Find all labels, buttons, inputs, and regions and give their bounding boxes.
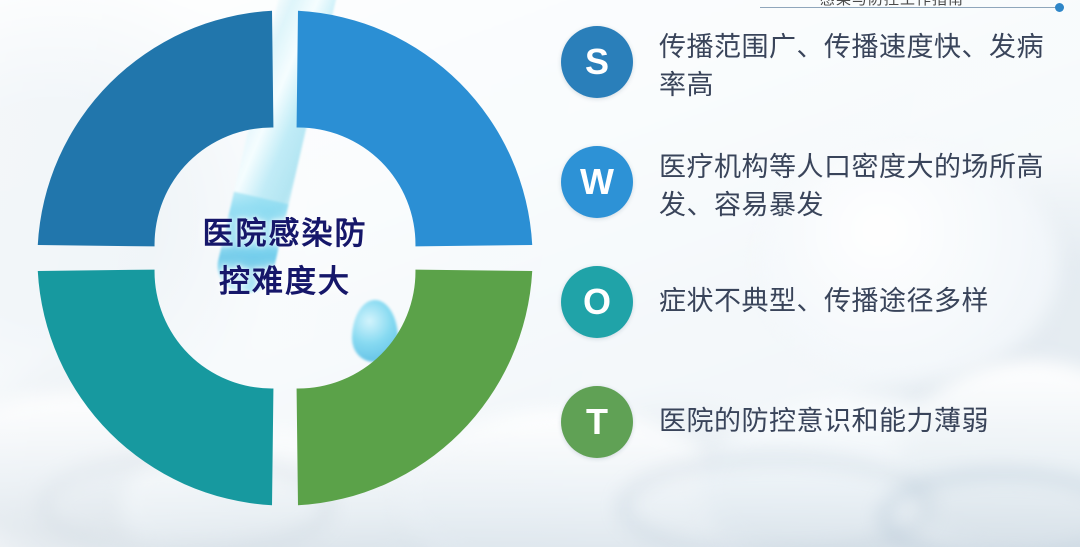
header-title: 感染与防控工作指南	[820, 0, 964, 9]
donut-chart: 医院感染防 控难度大	[37, 10, 533, 506]
swot-badge-letter-s: S	[585, 41, 609, 83]
swot-badge-letter-t: T	[586, 401, 608, 443]
slide-canvas: 感染与防控工作指南 医院感染防 控难度大 S 传播范围广、传播速度快、发病率高	[0, 0, 1080, 547]
swot-text-w: 医疗机构等人口密度大的场所高发、容易暴发	[659, 146, 1049, 225]
donut-segment-top-right	[297, 11, 533, 247]
swot-badge-w: W	[561, 146, 633, 218]
swot-text-s: 传播范围广、传播速度快、发病率高	[659, 26, 1049, 105]
donut-segment-bottom-right	[297, 270, 533, 506]
swot-item-w[interactable]: W 医疗机构等人口密度大的场所高发、容易暴发	[561, 146, 1066, 226]
header-dot-icon	[1055, 3, 1064, 12]
swot-item-o[interactable]: O 症状不典型、传播途径多样	[561, 266, 1066, 346]
swot-item-s[interactable]: S 传播范围广、传播速度快、发病率高	[561, 26, 1066, 106]
swot-badge-s: S	[561, 26, 633, 98]
swot-text-t: 医院的防控意识和能力薄弱	[659, 386, 989, 440]
donut-segment-bottom-left	[38, 270, 274, 506]
swot-badge-o: O	[561, 266, 633, 338]
swot-badge-t: T	[561, 386, 633, 458]
donut-segment-top-left	[38, 11, 274, 247]
swot-item-t[interactable]: T 医院的防控意识和能力薄弱	[561, 386, 1066, 466]
swot-text-o: 症状不典型、传播途径多样	[659, 266, 989, 320]
swot-list: S 传播范围广、传播速度快、发病率高 W 医疗机构等人口密度大的场所高发、容易暴…	[561, 26, 1066, 466]
swot-badge-letter-o: O	[583, 281, 611, 323]
swot-badge-letter-w: W	[580, 161, 614, 203]
